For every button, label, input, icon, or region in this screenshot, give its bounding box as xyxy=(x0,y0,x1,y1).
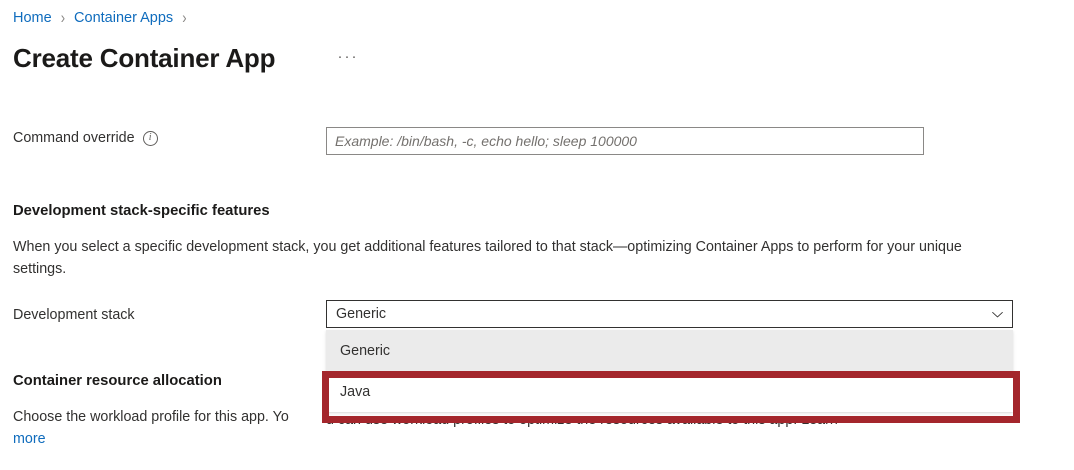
resource-allocation-description-text: Choose the workload profile for this app… xyxy=(13,409,289,425)
command-override-input[interactable] xyxy=(326,127,924,155)
chevron-down-icon xyxy=(991,308,1004,321)
development-stack-options-list: Generic Java xyxy=(326,330,1013,412)
breadcrumb: Home › Container Apps › xyxy=(13,8,196,28)
learn-more-link[interactable]: more xyxy=(13,428,46,450)
command-override-label-text: Command override xyxy=(13,128,135,148)
development-stack-value: Generic xyxy=(336,305,991,323)
resource-allocation-heading: Container resource allocation xyxy=(13,371,222,391)
dev-stack-description: When you select a specific development s… xyxy=(13,236,1013,280)
breadcrumb-separator-icon: › xyxy=(182,6,186,31)
breadcrumb-home[interactable]: Home xyxy=(13,8,52,28)
development-stack-label: Development stack xyxy=(13,305,135,325)
obscured-description-line: u can use workload profiles to optimize … xyxy=(326,418,1016,432)
resource-allocation-description: Choose the workload profile for this app… xyxy=(13,406,289,428)
development-stack-select[interactable]: Generic xyxy=(326,300,1013,328)
option-java[interactable]: Java xyxy=(326,371,1013,412)
command-override-label: Command override i xyxy=(13,128,158,148)
more-options-button[interactable]: ··· xyxy=(335,49,361,71)
breadcrumb-container-apps[interactable]: Container Apps xyxy=(74,8,173,28)
dev-stack-heading: Development stack-specific features xyxy=(13,201,270,221)
option-generic[interactable]: Generic xyxy=(326,330,1013,371)
page-title: Create Container App xyxy=(13,40,275,76)
development-stack-label-text: Development stack xyxy=(13,305,135,325)
breadcrumb-separator-icon: › xyxy=(61,6,65,31)
info-icon[interactable]: i xyxy=(143,131,158,146)
